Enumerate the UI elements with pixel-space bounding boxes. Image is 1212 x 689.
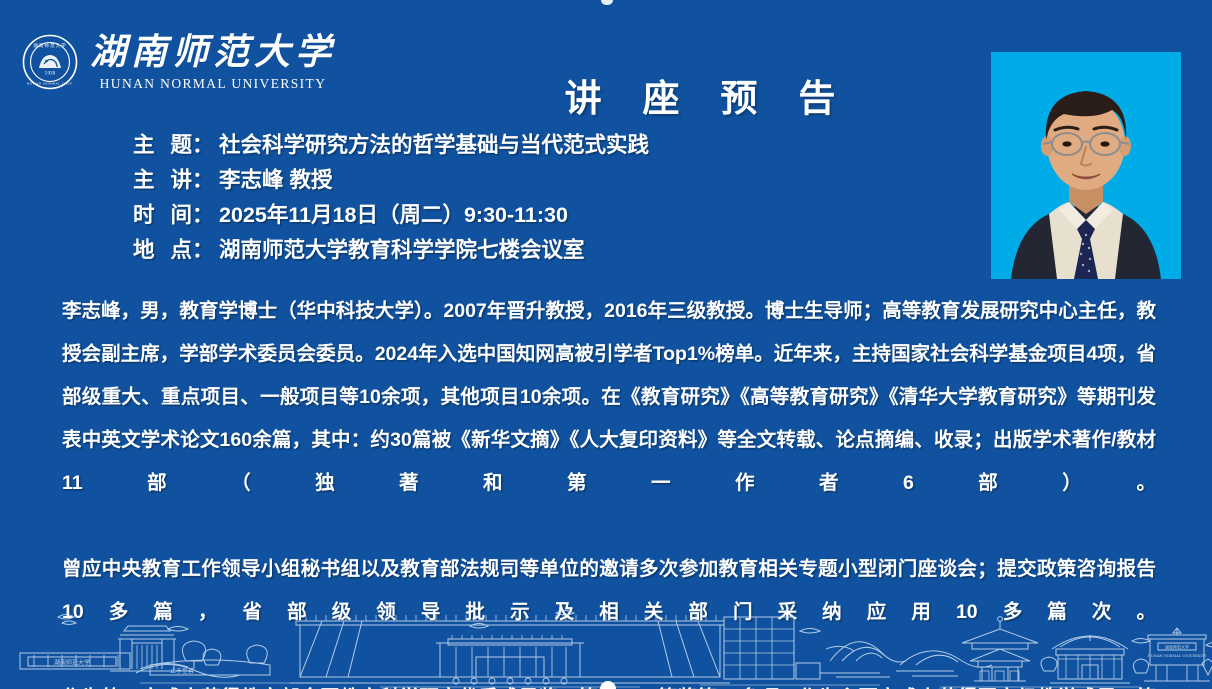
svg-text:湖南师范大学: 湖南师范大学 bbox=[33, 42, 67, 49]
detail-value-speaker: 李志峰 教授 bbox=[219, 163, 963, 194]
detail-row-time: 时间： 2025年11月18日（周二）9:30-11:30 bbox=[133, 198, 963, 233]
page-title: 讲 座 预 告 bbox=[440, 68, 960, 122]
detail-label-topic: 主题： bbox=[133, 128, 219, 159]
svg-text:HUNAN NORMAL UNIV.: HUNAN NORMAL UNIV. bbox=[27, 82, 73, 86]
bio-paragraph: 曾应中央教育工作领导小组秘书组以及教育部法规司等单位的邀请多次参加教育相关专题小… bbox=[62, 548, 1156, 677]
svg-text:1938: 1938 bbox=[45, 71, 56, 76]
lecture-details: 主题： 社会科学研究方法的哲学基础与当代范式实践 主讲： 李志峰 教授 时间： … bbox=[133, 128, 963, 268]
detail-value-time: 2025年11月18日（周二）9:30-11:30 bbox=[219, 198, 963, 229]
logo-name-cn: 湖南师范大学 bbox=[90, 34, 336, 70]
svg-text:HUNAN NORMAL UNIVERSITY: HUNAN NORMAL UNIVERSITY bbox=[1148, 654, 1208, 658]
speaker-portrait-photo bbox=[991, 52, 1181, 279]
logo-name-en: HUNAN NORMAL UNIVERSITY bbox=[100, 77, 327, 91]
detail-label-venue: 地点： bbox=[133, 233, 219, 264]
detail-label-speaker: 主讲： bbox=[133, 163, 219, 194]
top-edge-marker bbox=[601, 0, 613, 5]
bio-paragraph: 李志峰，男，教育学博士（华中科技大学）。2007年晋升教授，2016年三级教授。… bbox=[62, 290, 1156, 548]
detail-row-topic: 主题： 社会科学研究方法的哲学基础与当代范式实践 bbox=[133, 128, 963, 163]
detail-value-venue: 湖南师范大学教育科学学院七楼会议室 bbox=[219, 233, 963, 264]
detail-label-time: 时间： bbox=[133, 198, 219, 229]
detail-row-speaker: 主讲： 李志峰 教授 bbox=[133, 163, 963, 198]
lecture-poster: 1938 湖南师范大学 HUNAN NORMAL UNIV. 湖南师范大学 HU… bbox=[0, 0, 1212, 689]
svg-text:湖南师范大学: 湖南师范大学 bbox=[1165, 644, 1189, 650]
detail-value-topic: 社会科学研究方法的哲学基础与当代范式实践 bbox=[219, 128, 963, 159]
university-seal-icon: 1938 湖南师范大学 HUNAN NORMAL UNIV. bbox=[22, 34, 78, 90]
speaker-biography: 李志峰，男，教育学博士（华中科技大学）。2007年晋升教授，2016年三级教授。… bbox=[62, 290, 1156, 689]
university-logo: 1938 湖南师范大学 HUNAN NORMAL UNIV. 湖南师范大学 HU… bbox=[22, 34, 336, 91]
detail-row-venue: 地点： 湖南师范大学教育科学学院七楼会议室 bbox=[133, 233, 963, 268]
